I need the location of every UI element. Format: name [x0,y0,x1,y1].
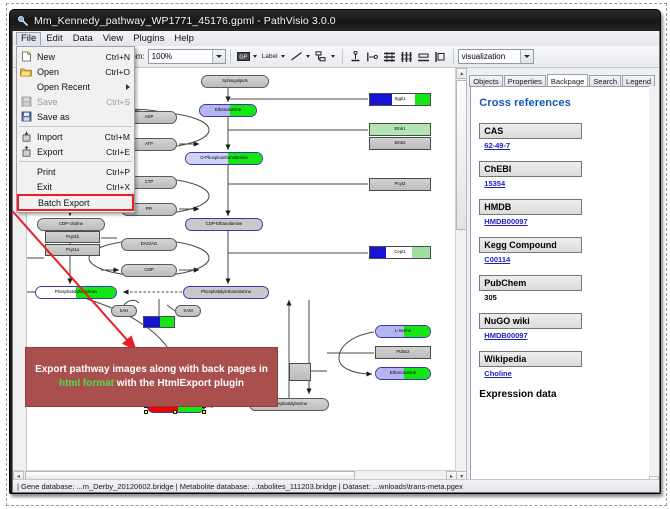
common-width-icon[interactable] [416,49,431,64]
xref-db-header: ChEBI [479,161,582,177]
file-dropdown-menu[interactable]: New Ctrl+N Open Ctrl+O Open Recen [16,46,135,213]
menu-item-accel: Ctrl+O [105,67,134,77]
node-fill-segment [415,94,431,105]
toolbar-divider [230,49,231,64]
pathway-node-label: PPi [146,207,153,211]
zoom-combobox[interactable]: 100% [148,49,226,64]
export-icon [19,145,33,158]
pathway-node-sah[interactable]: SAH [111,305,137,317]
zoom-value: 100% [152,52,172,61]
menu-item-label: Batch Export [38,198,129,208]
scroll-up-button[interactable]: ▴ [456,68,467,79]
pathway-node-label: L-Serine [395,329,411,333]
pathway-node-pemt[interactable] [143,316,175,328]
pathway-node-sam[interactable]: SAM [175,305,201,317]
side-panel-scrollbar[interactable]: ▾ [649,86,659,486]
common-height-icon[interactable] [433,49,448,64]
pathway-node-label: Pcyt2 [395,182,406,186]
pathway-node-pcyt1b[interactable]: Pcyt1b [45,231,100,243]
menu-item-save: Save Ctrl+S [17,94,134,109]
pathway-node-label: CDP-choline [59,222,83,226]
menu-edit[interactable]: Edit [41,32,67,46]
chevron-down-icon[interactable] [212,50,225,63]
pathway-node-label: Ptdss2 [396,350,409,354]
pathway-node-label: ADP [145,115,154,119]
node-fill-segment [412,247,431,258]
xref-value-link[interactable]: 62-49-7 [484,141,645,150]
menu-item-label: New [37,52,106,62]
folder-icon [19,65,33,78]
pathway-node-o-phosphoetha[interactable]: O-Phosphoethanolamine [185,152,263,165]
pathway-node-ethanolamine-top[interactable]: Ethanolamine [199,104,257,117]
backpage-title: Cross references [479,97,645,109]
stack-vertical-icon[interactable] [382,49,397,64]
menu-item-label: Print [37,167,106,177]
pathway-node-label: Sphingolipids [222,79,248,83]
pathway-node-label: O-Phosphoethanolamine [200,156,248,160]
menu-item-save-as[interactable]: Save as [17,109,134,124]
xref-db-header: CAS [479,123,582,139]
status-text: | Gene database: ...m_Derby_20120602.bri… [17,482,463,491]
pathway-node-label: Etnk2 [395,141,406,145]
menu-item-label: Save [37,97,106,107]
pathway-node-pcyt2[interactable]: Pcyt2 [369,178,431,191]
window-title: Mm_Kennedy_pathway_WP1771_45176.gpml - P… [34,15,336,27]
xref-value-link: 305 [484,293,645,302]
chevron-down-icon[interactable] [281,55,285,58]
xref-db-header: HMDB [479,199,582,215]
pathway-node-label: Sgpl1 [395,97,406,101]
visualization-combobox[interactable]: visualization [458,49,534,64]
pathway-node-cdp-choline[interactable]: CDP-choline [37,218,105,231]
pathway-node-label: Etnk1 [395,127,406,131]
menu-item-accel: Ctrl+M [105,132,134,142]
xref-value-link[interactable]: HMDB00097 [484,217,645,226]
callout-text-before: Export pathway images along with back pa… [35,364,268,375]
menu-divider [19,161,132,162]
annotation-callout: Export pathway images along with back pa… [25,347,278,407]
menu-item-label: Export [37,147,106,157]
pathway-node-cmp[interactable]: CMP [121,264,177,277]
menu-item-new[interactable]: New Ctrl+N [17,49,134,64]
xref-value-link[interactable]: HMDB00097 [484,331,645,340]
menu-item-import[interactable]: Import Ctrl+M [17,129,134,144]
pathway-node-label: SAH [120,309,129,313]
pathway-node-label: SAM [183,309,192,313]
pathway-node-label: Ethanolamine [390,371,416,375]
xref-value-link[interactable]: 15354 [484,179,645,188]
chevron-down-icon[interactable] [520,50,533,63]
geneproduct-dropdown[interactable]: GP [235,49,260,64]
geneproduct-icon[interactable]: GP [236,49,251,64]
xref-db-header: NuGO wiki [479,313,582,329]
stack-horizontal-icon[interactable] [399,49,414,64]
menu-help[interactable]: Help [169,32,199,46]
pathway-node-label: Ethanolamine [215,108,241,112]
pathway-node-label: Pcyt1b [66,235,79,239]
xref-value-link[interactable]: C00114 [484,255,645,264]
new-file-icon [19,50,33,63]
align-top-icon[interactable] [348,49,363,64]
xref-value-link[interactable]: Choline [484,369,645,378]
pathvisio-icon [17,15,28,26]
pathway-node-label: Phosphatidylethanolamine [201,290,251,294]
menu-item-open[interactable]: Open Ctrl+O [17,64,134,79]
menu-item-accel: Ctrl+N [106,52,134,62]
chevron-right-icon [126,84,130,90]
menu-item-export[interactable]: Export Ctrl+E [17,144,134,159]
pathway-node-ptdss2[interactable]: Ptdss2 [375,346,431,359]
import-icon [19,130,33,143]
interaction-icon[interactable] [314,49,329,64]
pathway-node-label: CTP [145,180,154,184]
pathway-node-ptdss1[interactable] [289,363,311,381]
cross-reference-list: CAS62-49-7ChEBI15354HMDBHMDB00097Kegg Co… [479,123,645,378]
menu-data[interactable]: Data [68,32,98,46]
pathway-node-ethanolamine-2[interactable]: Ethanolamine [375,367,431,380]
toolbar-divider [342,49,343,64]
line-dropdown[interactable] [288,49,313,64]
side-panel-tabstrip: Objects Properties Backpage Search Legen… [469,71,659,87]
callout-highlight: html format [59,378,114,389]
xref-db-header: PubChem [479,275,582,291]
pathway-node-cept1[interactable]: Cept1 [369,246,431,259]
menu-item-batch-export[interactable]: Batch Export [18,195,133,210]
selection-handle[interactable] [202,410,206,414]
canvas-vertical-scrollbar[interactable]: ▴ ▾ [455,68,466,482]
menu-plugins[interactable]: Plugins [128,32,169,46]
pathway-node-label: Cept1 [394,250,405,254]
chevron-down-icon[interactable] [331,55,335,58]
menu-file[interactable]: File [16,32,41,45]
label-button[interactable]: Label [260,53,280,60]
node-fill-segment [144,317,160,327]
pathway-node-label: CDP-Ethanolamine [206,222,243,226]
status-bar: | Gene database: ...m_Derby_20120602.bri… [13,479,659,492]
menu-item-accel: Ctrl+P [106,167,134,177]
node-fill-segment [160,317,175,327]
align-left-icon[interactable] [365,49,380,64]
node-fill-segment [370,94,392,105]
pathway-node-label: ATP [145,142,153,146]
menu-item-accel: Ctrl+X [106,182,134,192]
menu-item-label: Open [37,67,105,77]
canvas-vscroll-thumb[interactable] [456,80,467,230]
menu-item-print[interactable]: Print Ctrl+P [17,164,134,179]
pathway-node-phosphatidylch[interactable]: Phosphatidylkcholines [35,286,117,299]
chevron-down-icon[interactable] [253,55,257,58]
svg-text:GP: GP [239,55,247,61]
screenshot-root: Mm_Kennedy_pathway_WP1771_45176.gpml - P… [0,0,670,509]
expression-data-title: Expression data [479,389,645,400]
label-dropdown[interactable]: Label [260,53,288,60]
pathway-node-etnk1[interactable]: Etnk1 [369,123,431,136]
save-as-icon [19,110,33,123]
menu-divider [19,126,132,127]
menu-item-accel: Ctrl+S [106,97,134,107]
xref-db-header: Wikipedia [479,351,582,367]
backpage-content: Cross references CAS62-49-7ChEBI15354HMD… [470,86,654,486]
menu-item-label: Exit [37,182,106,192]
interaction-dropdown[interactable] [313,49,338,64]
menu-view[interactable]: View [98,32,128,46]
chevron-down-icon[interactable] [306,55,310,58]
side-panel: Objects Properties Backpage Search Legen… [467,68,659,493]
pathway-node-pcyt1a[interactable]: Pcyt1a [45,244,100,256]
pathway-node-label: Phosphatidylkcholines [55,290,98,294]
menu-item-open-recent[interactable]: Open Recent [17,79,134,94]
menu-item-label: Import [37,132,105,142]
batch-export-wrapper: Batch Export [17,195,134,210]
menu-item-label: Open Recent [37,82,126,92]
pathway-node-sphingolipids[interactable]: Sphingolipids [201,75,269,88]
pathway-node-etnk2[interactable]: Etnk2 [369,137,431,150]
pathway-node-sgpl1[interactable]: Sgpl1 [369,93,431,106]
pathway-node-cdp-ethanol[interactable]: CDP-Ethanolamine [185,218,263,231]
application-window: Mm_Kennedy_pathway_WP1771_45176.gpml - P… [9,9,661,494]
client-area: File Edit Data View Plugins Help Zoom: 1… [12,31,660,493]
pathway-node-label: DAG/AG [141,242,158,246]
node-fill-segment [370,247,386,258]
menu-bar: File Edit Data View Plugins Help [13,31,659,46]
toolbar-divider [453,49,454,64]
menu-item-exit[interactable]: Exit Ctrl+X [17,179,134,194]
line-icon[interactable] [289,49,304,64]
selection-handle[interactable] [173,410,177,414]
pathway-node-phosphatidyleth[interactable]: Phosphatidylethanolamine [183,286,269,299]
save-icon [19,95,33,108]
title-bar: Mm_Kennedy_pathway_WP1771_45176.gpml - P… [10,10,661,31]
menu-item-accel: Ctrl+E [106,147,134,157]
pathway-node-l-serine[interactable]: L-Serine [375,325,431,338]
visualization-value: visualization [462,52,506,61]
pathway-node-label: CMP [144,268,154,272]
pathway-node-dag[interactable]: DAG/AG [121,238,177,251]
callout-text-after: with the HtmlExport plugin [114,378,244,389]
menu-item-label: Save as [37,112,130,122]
xref-db-header: Kegg Compound [479,237,582,253]
pathway-node-label: Pcyt1a [66,248,79,252]
selection-handle[interactable] [144,410,148,414]
